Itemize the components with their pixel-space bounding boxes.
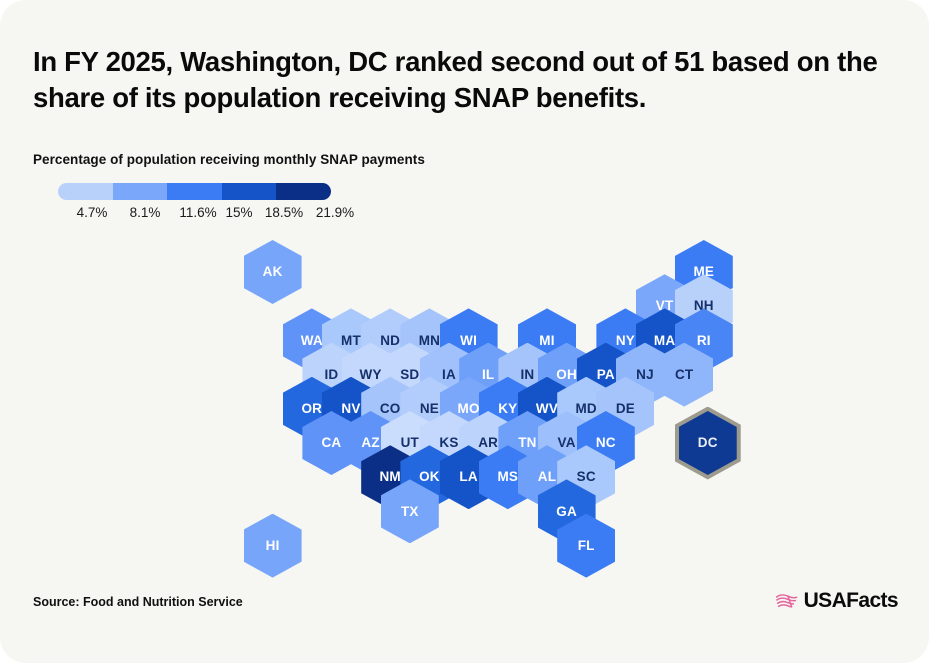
hex-cartogram-map: AKMEVTNHWAMTNDMNWIMINYMARIIDWYSDIAILINOH… [0,0,929,663]
hex-label-pa: PA [597,368,615,382]
hex-state-ak[interactable]: AK [244,240,302,304]
hex-label-de: DE [616,402,635,416]
hex-label-va: VA [558,436,576,450]
hex-label-wa: WA [301,334,323,348]
hex-label-or: OR [301,402,322,416]
hex-label-nm: NM [379,470,400,484]
hex-label-ok: OK [419,470,440,484]
usafacts-logo[interactable]: USAFacts [775,589,898,613]
hex-label-ar: AR [478,436,498,450]
hex-label-az: AZ [361,436,379,450]
hex-label-ct: CT [675,368,693,382]
hex-label-il: IL [482,368,494,382]
hex-label-tn: TN [518,436,536,450]
hex-label-ut: UT [401,436,419,450]
hex-label-nc: NC [596,436,616,450]
hex-label-dc: DC [698,436,718,450]
hex-label-nj: NJ [636,368,654,382]
hex-label-oh: OH [556,368,577,382]
hex-label-ma: MA [654,334,675,348]
hex-label-mn: MN [419,334,440,348]
hex-label-fl: FL [578,539,595,553]
hex-label-hi: HI [266,539,280,553]
hex-label-md: MD [575,402,596,416]
hex-label-wv: WV [536,402,558,416]
source-note: Source: Food and Nutrition Service [33,595,243,609]
usafacts-flag-icon [775,593,798,610]
hex-label-ak: AK [263,265,283,279]
hex-label-mt: MT [341,334,361,348]
hex-label-ne: NE [420,402,439,416]
hex-label-ca: CA [321,436,341,450]
hex-label-ky: KY [498,402,517,416]
hex-label-la: LA [459,470,477,484]
hex-label-ri: RI [697,334,711,348]
hex-label-in: IN [520,368,534,382]
hex-label-nv: NV [341,402,360,416]
hex-label-id: ID [324,368,338,382]
hex-label-wy: WY [360,368,382,382]
hex-label-mo: MO [458,402,480,416]
usafacts-wordmark: USAFacts [804,589,898,613]
hex-label-wi: WI [460,334,477,348]
hex-label-nd: ND [380,334,400,348]
hex-label-ms: MS [497,470,518,484]
hex-state-hi[interactable]: HI [244,514,302,578]
infographic-card: In FY 2025, Washington, DC ranked second… [0,0,929,663]
hex-label-mi: MI [539,334,554,348]
hex-label-ks: KS [439,436,458,450]
hex-label-tx: TX [401,505,419,519]
hex-label-ia: IA [442,368,456,382]
hex-label-ny: NY [616,334,635,348]
hex-label-ga: GA [556,505,577,519]
hex-label-co: CO [380,402,401,416]
hex-label-sd: SD [400,368,419,382]
hex-label-al: AL [538,470,556,484]
hex-label-sc: SC [577,470,596,484]
